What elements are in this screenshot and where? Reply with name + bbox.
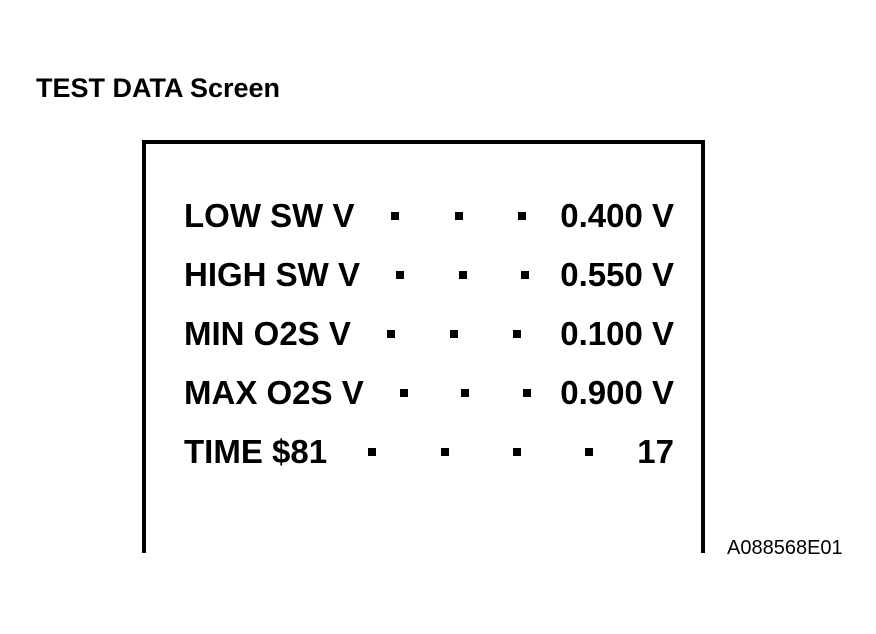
figure-title: TEST DATA Screen [36, 72, 280, 104]
leader-dot-icon [513, 330, 521, 338]
leader-dot-icon [523, 389, 531, 397]
row-label: MIN O2S V [184, 304, 351, 363]
leader-dot-icon [521, 271, 529, 279]
row-label: MAX O2S V [184, 363, 364, 422]
leader-dot-icon [441, 448, 449, 456]
row-value: 17 [635, 422, 674, 481]
leader-dot-icon [391, 212, 399, 220]
leader-dots [364, 363, 561, 422]
leader-dot-icon [396, 271, 404, 279]
leader-dot-icon [518, 212, 526, 220]
row-label: HIGH SW V [184, 245, 360, 304]
row-label: TIME $81 [184, 422, 327, 481]
leader-dot-icon [513, 448, 521, 456]
leader-dot-icon [585, 448, 593, 456]
row-label: LOW SW V [184, 186, 354, 245]
figure-reference-code: A088568E01 [727, 537, 843, 560]
row-value: 0.100 V [560, 304, 674, 363]
test-data-row: MIN O2S V 0.100 V [184, 304, 674, 363]
test-data-row: MAX O2S V 0.900 V [184, 363, 674, 422]
leader-dot-icon [455, 212, 463, 220]
leader-dot-icon [461, 389, 469, 397]
figure-page: TEST DATA Screen LOW SW V 0.400 V HIGH S… [0, 0, 876, 634]
leader-dot-icon [450, 330, 458, 338]
test-data-row: HIGH SW V 0.550 V [184, 245, 674, 304]
test-data-row-list: LOW SW V 0.400 V HIGH SW V 0.550 V M [184, 186, 674, 481]
leader-dot-icon [368, 448, 376, 456]
leader-dots [327, 422, 635, 481]
row-value: 0.400 V [560, 186, 674, 245]
leader-dots [360, 245, 560, 304]
row-value: 0.550 V [560, 245, 674, 304]
leader-dots [351, 304, 560, 363]
test-data-screen-box: LOW SW V 0.400 V HIGH SW V 0.550 V M [142, 140, 705, 553]
leader-dot-icon [400, 389, 408, 397]
row-value: 0.900 V [560, 363, 674, 422]
test-data-row: LOW SW V 0.400 V [184, 186, 674, 245]
leader-dots [354, 186, 560, 245]
test-data-row: TIME $81 17 [184, 422, 674, 481]
leader-dot-icon [387, 330, 395, 338]
leader-dot-icon [459, 271, 467, 279]
